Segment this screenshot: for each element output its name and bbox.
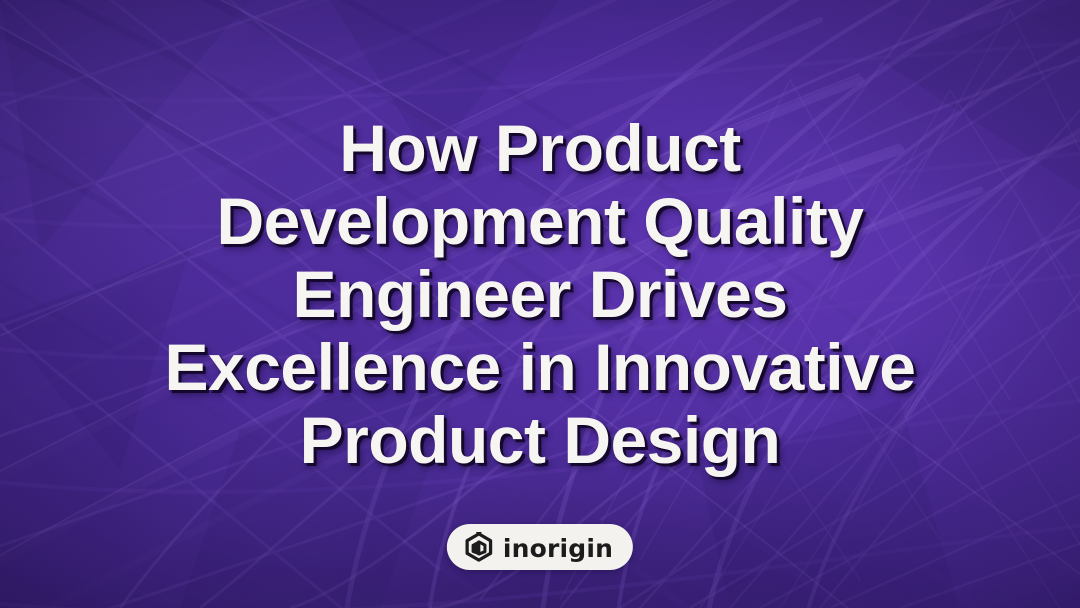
page-title: How Product Development Quality Engineer… — [0, 112, 1080, 477]
title-line-4: Excellence in Innovative — [24, 331, 1056, 404]
title-line-5: Product Design — [24, 404, 1056, 477]
brand-logo-badge[interactable]: inorigin — [447, 524, 633, 570]
title-line-1: How Product — [24, 112, 1056, 185]
brand-wordmark: inorigin — [503, 536, 613, 561]
title-line-3: Engineer Drives — [24, 258, 1056, 331]
inorigin-hexagon-cube-icon — [464, 532, 494, 562]
title-line-2: Development Quality — [24, 185, 1056, 258]
hero-banner: How Product Development Quality Engineer… — [0, 0, 1080, 608]
